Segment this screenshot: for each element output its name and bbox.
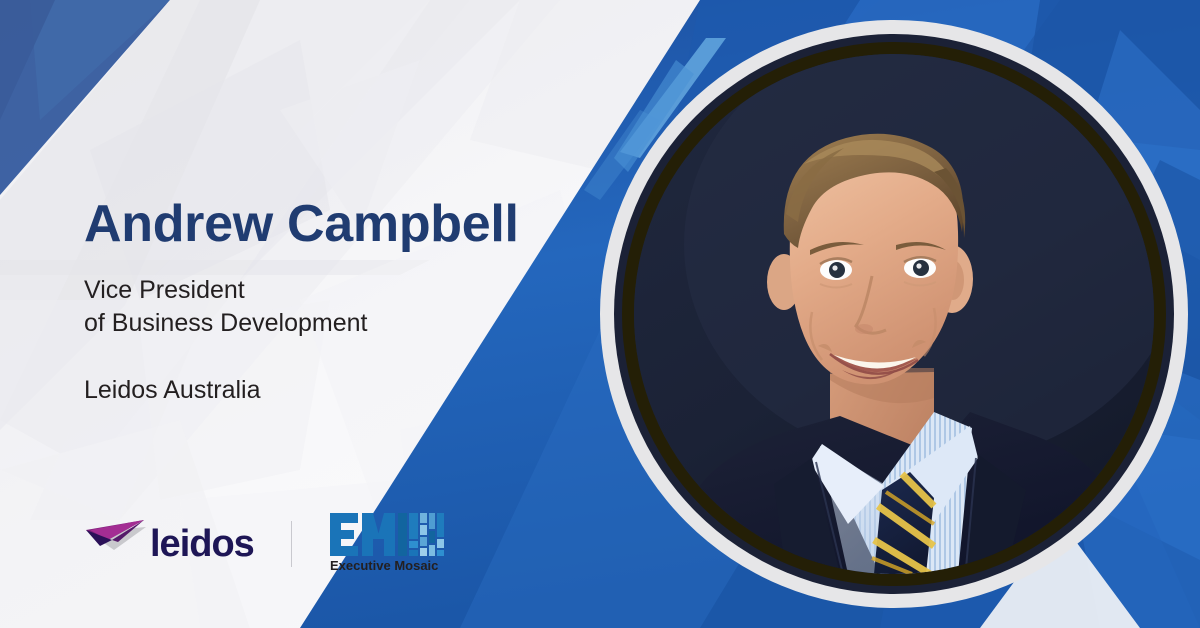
portrait-photo bbox=[634, 54, 1154, 574]
executive-mosaic-logo-svg: Executive Mosaic bbox=[328, 511, 446, 573]
portrait-medallion bbox=[600, 20, 1188, 608]
profile-banner: Andrew Campbell Vice President of Busine… bbox=[0, 0, 1200, 628]
person-organization: Leidos Australia bbox=[84, 374, 554, 407]
logo-divider bbox=[291, 521, 292, 567]
leidos-logo[interactable]: leidos bbox=[84, 516, 259, 572]
person-info: Andrew Campbell Vice President of Busine… bbox=[84, 196, 554, 407]
portrait-illustration bbox=[634, 54, 1154, 574]
person-title-line1: Vice President bbox=[84, 276, 245, 304]
logo-bar: leidos bbox=[84, 506, 446, 582]
person-title-line2: of Business Development bbox=[84, 309, 367, 337]
swoosh-arrow-icon bbox=[86, 520, 146, 550]
svg-text:leidos: leidos bbox=[150, 523, 254, 565]
mosaic-grid-icon bbox=[398, 513, 444, 556]
em-monogram bbox=[330, 513, 395, 556]
person-title: Vice President of Business Development bbox=[84, 274, 554, 340]
leidos-logo-svg: leidos bbox=[84, 516, 259, 572]
page-title: Andrew Campbell bbox=[84, 196, 554, 252]
executive-mosaic-logo[interactable]: Executive Mosaic bbox=[328, 511, 446, 578]
executive-mosaic-tagline: Executive Mosaic bbox=[330, 558, 438, 573]
